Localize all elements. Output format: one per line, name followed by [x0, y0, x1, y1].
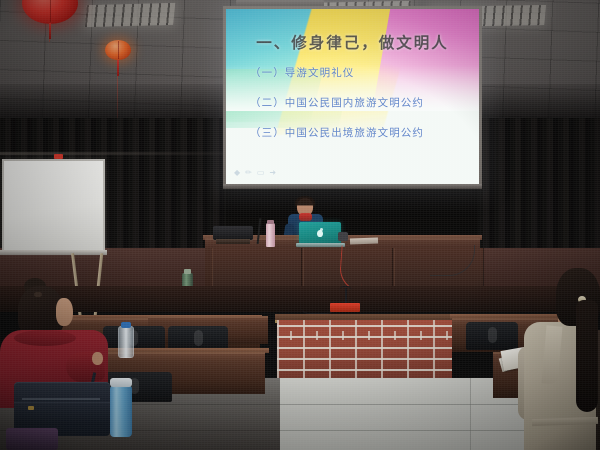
red-lantern-small-icon [105, 40, 131, 60]
chair-back [103, 326, 165, 350]
slide-bullet-1: （一）导游文明礼仪 [250, 65, 460, 80]
desk-small-object [338, 232, 348, 241]
slide-title: 一、修身律己，做文明人 [226, 31, 479, 53]
apple-logo-icon [317, 230, 323, 237]
red-marker-icon [54, 154, 63, 159]
brick-mortar-offset [290, 331, 465, 340]
slide-bullet-3: （三）中国公民出境旅游文明公约 [250, 125, 460, 140]
dark-equipment-box [213, 226, 253, 240]
ppt-menu-icon[interactable]: ▭ [257, 168, 265, 177]
clear-water-bottle [118, 326, 134, 358]
whiteboard [2, 159, 105, 252]
floor-tile-line [470, 378, 471, 450]
ppt-presenter-nav[interactable]: ◆ ✏ ▭ ➜ [234, 168, 276, 177]
student-face [56, 298, 73, 326]
projection-screen: 一、修身律己，做文明人 （一）导游文明礼仪 （二）中国公民国内旅游文明公约 （三… [226, 9, 479, 185]
dark-equipment-base [216, 239, 250, 244]
bag-zipper [22, 398, 100, 400]
bag-clasp [28, 406, 34, 410]
ceiling-light-panel [85, 3, 175, 27]
ppt-nav-next-icon[interactable]: ➜ [269, 168, 276, 177]
screenshot-root: 一、修身律己，做文明人 （一）导游文明礼仪 （二）中国公民国内旅游文明公约 （三… [0, 0, 600, 450]
ppt-pen-icon[interactable]: ✏ [245, 168, 252, 177]
student-hand [92, 352, 103, 365]
paper-stack [350, 238, 378, 245]
slide-body: （一）导游文明礼仪 （二）中国公民国内旅游文明公约 （三）中国公民出境旅游文明公… [250, 65, 460, 155]
red-device [330, 303, 360, 312]
blue-tumbler [110, 385, 132, 437]
hair-tie [34, 292, 42, 297]
macbook-base [296, 243, 345, 247]
desk-panel [212, 248, 302, 286]
hoodie-collar [14, 330, 76, 346]
screen-bottom-bar [223, 184, 482, 189]
slide-bullet-2: （二）中国公民国内旅游文明公约 [250, 95, 460, 110]
purple-bag [6, 428, 58, 450]
chair-back [168, 326, 228, 350]
presenter-scarf [299, 213, 312, 221]
whiteboard-tray [0, 250, 107, 255]
student-ponytail [576, 300, 598, 412]
ppt-nav-prev-icon[interactable]: ◆ [234, 168, 240, 177]
wall-trim [0, 152, 226, 155]
chair-back [466, 322, 518, 350]
brick-lectern [277, 320, 452, 382]
powerpoint-slide: 一、修身律己，做文明人 （一）导游文明礼仪 （二）中国公民国内旅游文明公约 （三… [226, 9, 479, 185]
pink-thermos [266, 223, 275, 247]
